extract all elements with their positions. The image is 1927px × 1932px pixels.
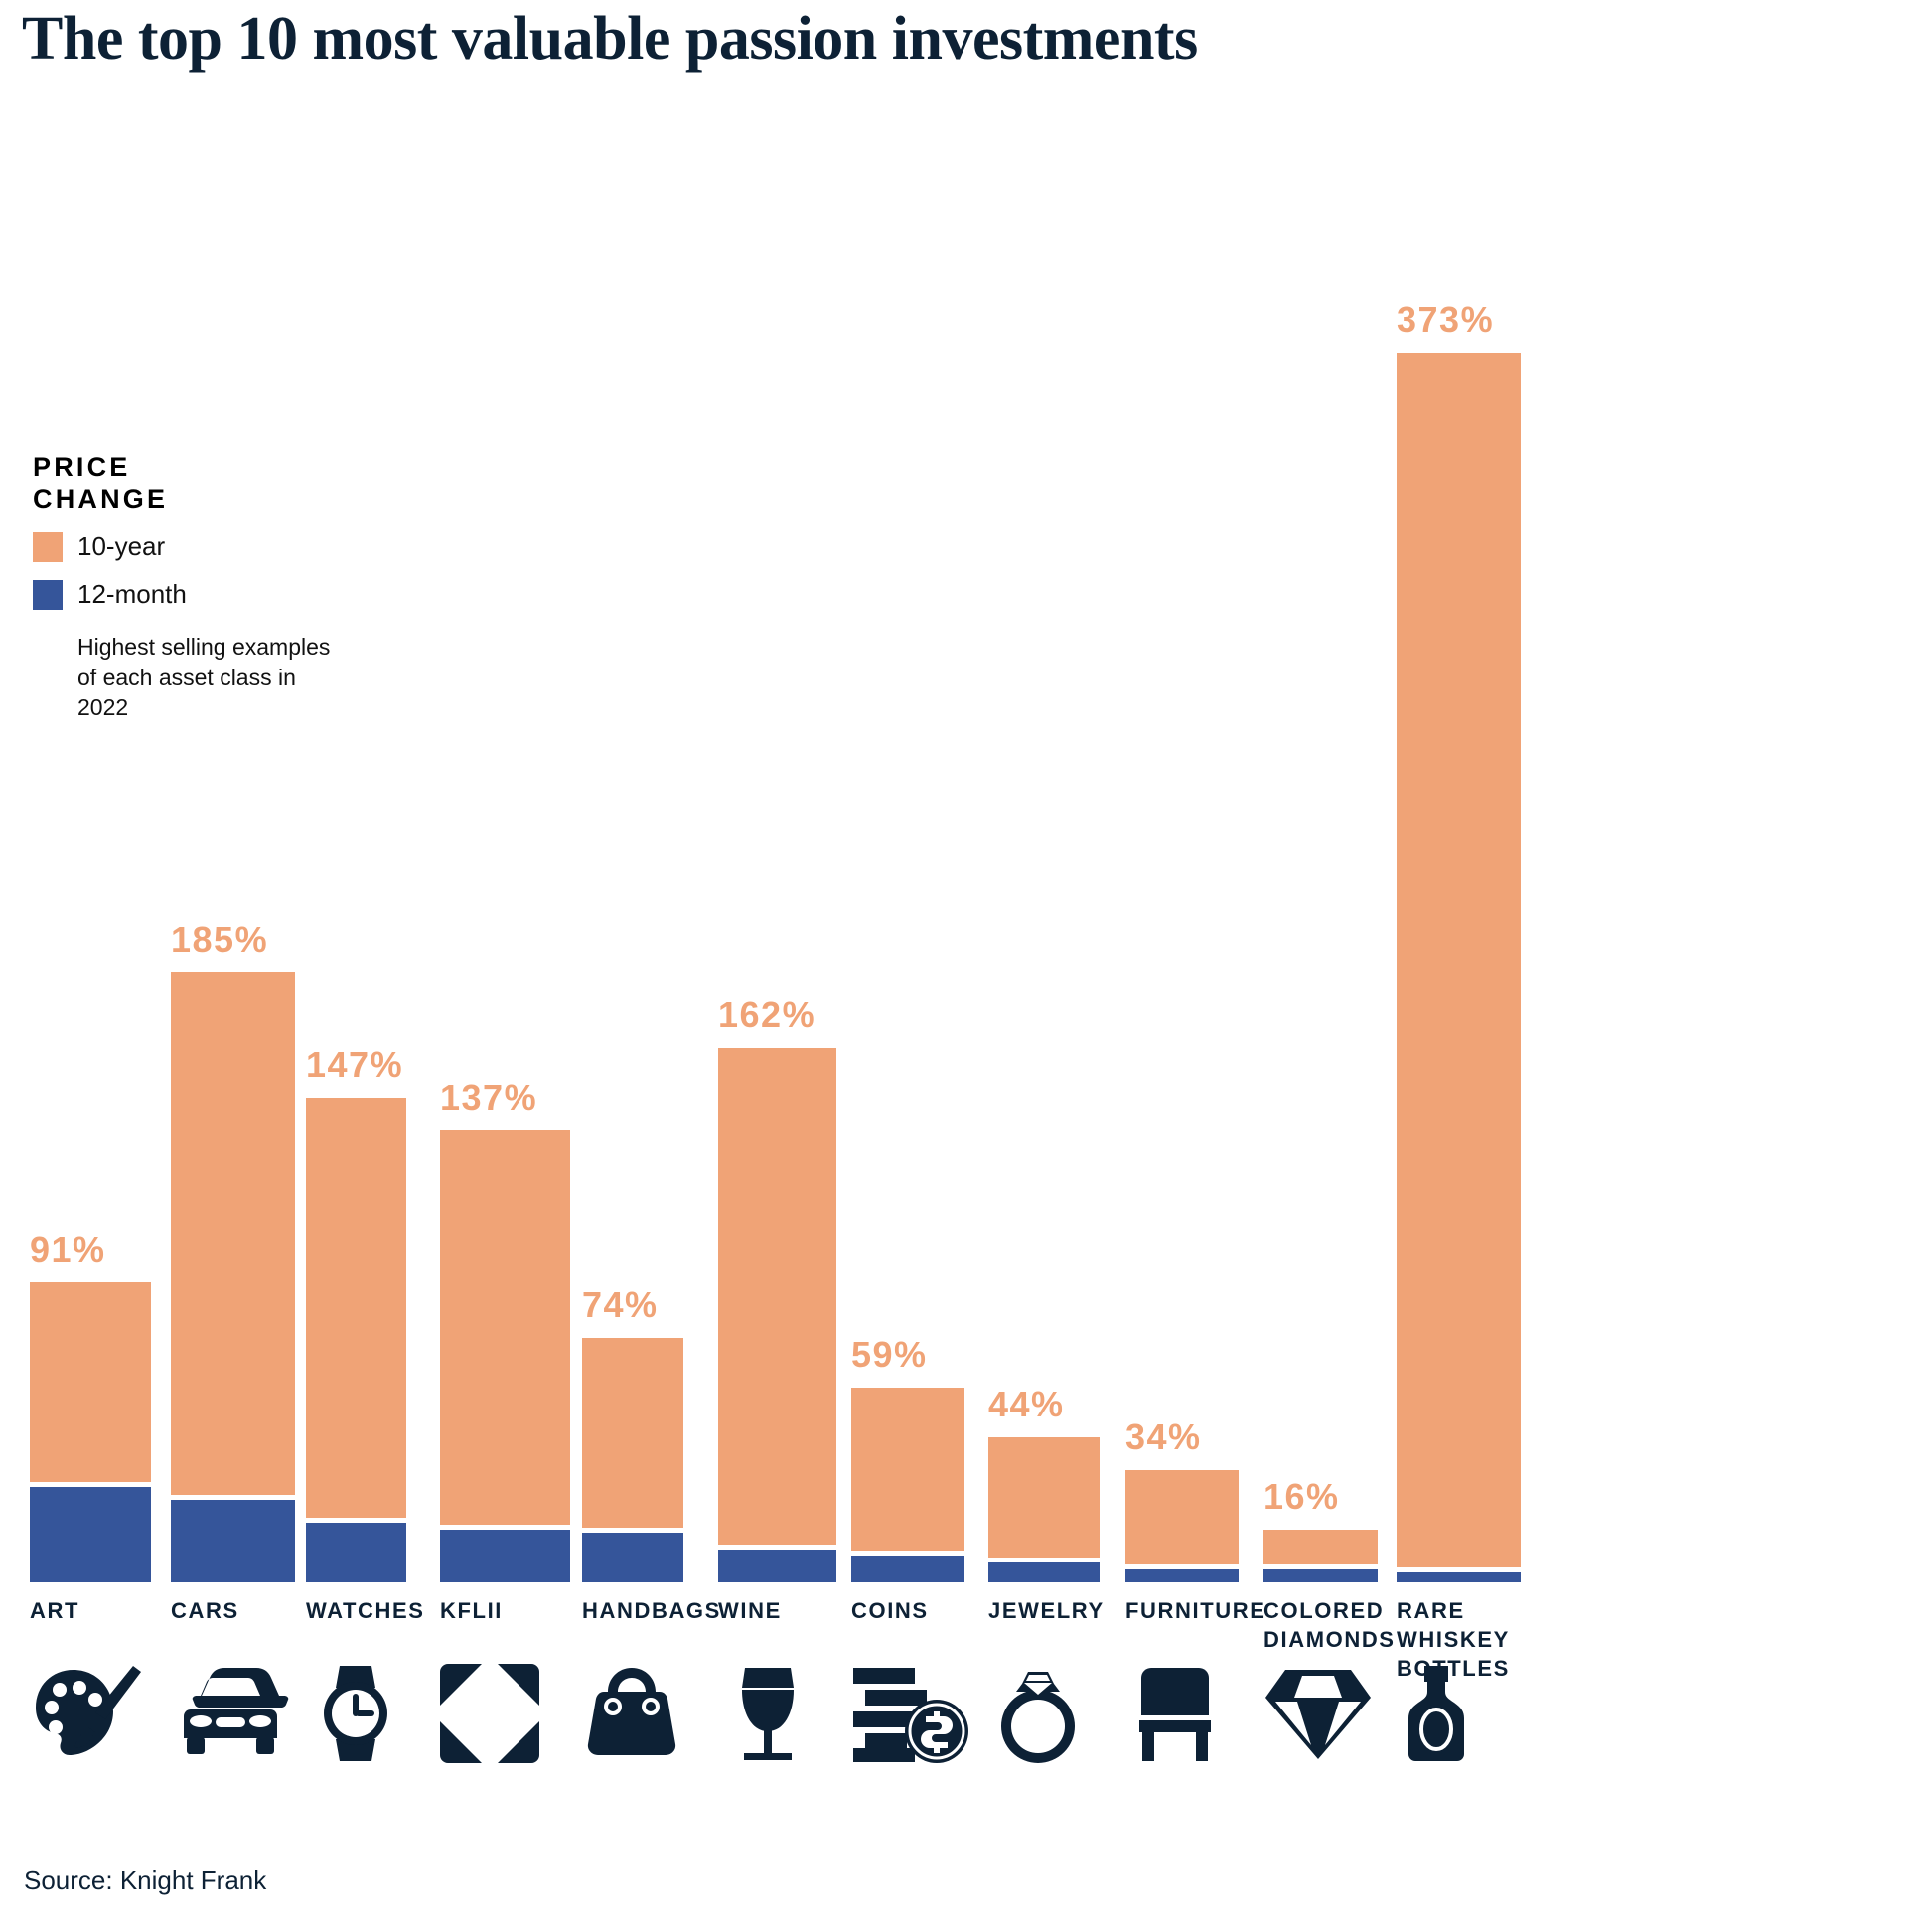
chart-plot-area: 91%29%185%25%147%18%137%16%74%15%162%10%… [0, 0, 1927, 1582]
bar-value-label-10-year: 137% [440, 1077, 537, 1118]
bar-value-label-10-year: 373% [1397, 299, 1494, 341]
bar-value-label-10-year: 162% [718, 994, 815, 1036]
bar-group[interactable] [171, 972, 295, 1582]
bar-segment-10-year[interactable] [30, 1282, 151, 1482]
bar-group[interactable] [440, 1130, 570, 1582]
knight-frank-logo-icon [440, 1649, 569, 1778]
bar-segment-12-month[interactable] [1397, 1572, 1521, 1582]
palette-icon [30, 1649, 159, 1778]
bar-segment-10-year[interactable] [1263, 1530, 1378, 1564]
bar-segment-12-month[interactable] [1263, 1569, 1378, 1582]
bar-segment-12-month[interactable] [440, 1530, 570, 1582]
bar-group[interactable] [1397, 353, 1521, 1582]
bar-value-label-10-year: 185% [171, 919, 268, 961]
bar-segment-12-month[interactable] [306, 1523, 406, 1582]
bar-value-label-10-year: 44% [988, 1384, 1065, 1425]
ring-icon [988, 1649, 1117, 1778]
bar-group[interactable] [718, 1048, 836, 1582]
bar-segment-12-month[interactable] [988, 1562, 1100, 1582]
bar-segment-10-year[interactable] [718, 1048, 836, 1544]
bar-group[interactable] [582, 1338, 683, 1582]
coins-icon [851, 1649, 980, 1778]
source-caption: Source: Knight Frank [24, 1865, 266, 1896]
bar-segment-12-month[interactable] [30, 1487, 151, 1582]
car-icon [171, 1649, 300, 1778]
bar-group[interactable] [1125, 1470, 1239, 1582]
bar-value-label-10-year: 59% [851, 1334, 928, 1376]
bar-segment-10-year[interactable] [582, 1338, 683, 1528]
bar-value-label-10-year: 91% [30, 1229, 106, 1270]
bar-value-label-10-year: 74% [582, 1284, 659, 1326]
chair-icon [1125, 1649, 1255, 1778]
bar-group[interactable] [30, 1282, 151, 1582]
wine-glass-icon [718, 1649, 847, 1778]
bar-segment-12-month[interactable] [718, 1550, 836, 1582]
watch-icon [306, 1649, 435, 1778]
bar-group[interactable] [851, 1388, 964, 1582]
bar-group[interactable] [306, 1098, 406, 1582]
bar-value-label-10-year: 147% [306, 1044, 403, 1086]
bar-segment-10-year[interactable] [306, 1098, 406, 1518]
diamond-icon [1263, 1649, 1393, 1778]
whiskey-bottle-icon [1397, 1649, 1526, 1778]
bar-group[interactable] [988, 1437, 1100, 1582]
bar-value-label-10-year: 34% [1125, 1416, 1202, 1458]
bar-segment-10-year[interactable] [440, 1130, 570, 1525]
bar-segment-12-month[interactable] [171, 1500, 295, 1582]
bar-segment-10-year[interactable] [851, 1388, 964, 1551]
bar-segment-12-month[interactable] [851, 1556, 964, 1582]
bar-value-label-10-year: 16% [1263, 1476, 1340, 1518]
handbag-icon [582, 1649, 711, 1778]
bar-segment-10-year[interactable] [171, 972, 295, 1495]
category-icons [0, 1649, 1927, 1783]
bar-segment-10-year[interactable] [988, 1437, 1100, 1558]
bar-segment-12-month[interactable] [1125, 1569, 1239, 1582]
bar-segment-10-year[interactable] [1397, 353, 1521, 1567]
bar-group[interactable] [1263, 1530, 1378, 1582]
bar-segment-10-year[interactable] [1125, 1470, 1239, 1564]
bar-segment-12-month[interactable] [582, 1533, 683, 1582]
